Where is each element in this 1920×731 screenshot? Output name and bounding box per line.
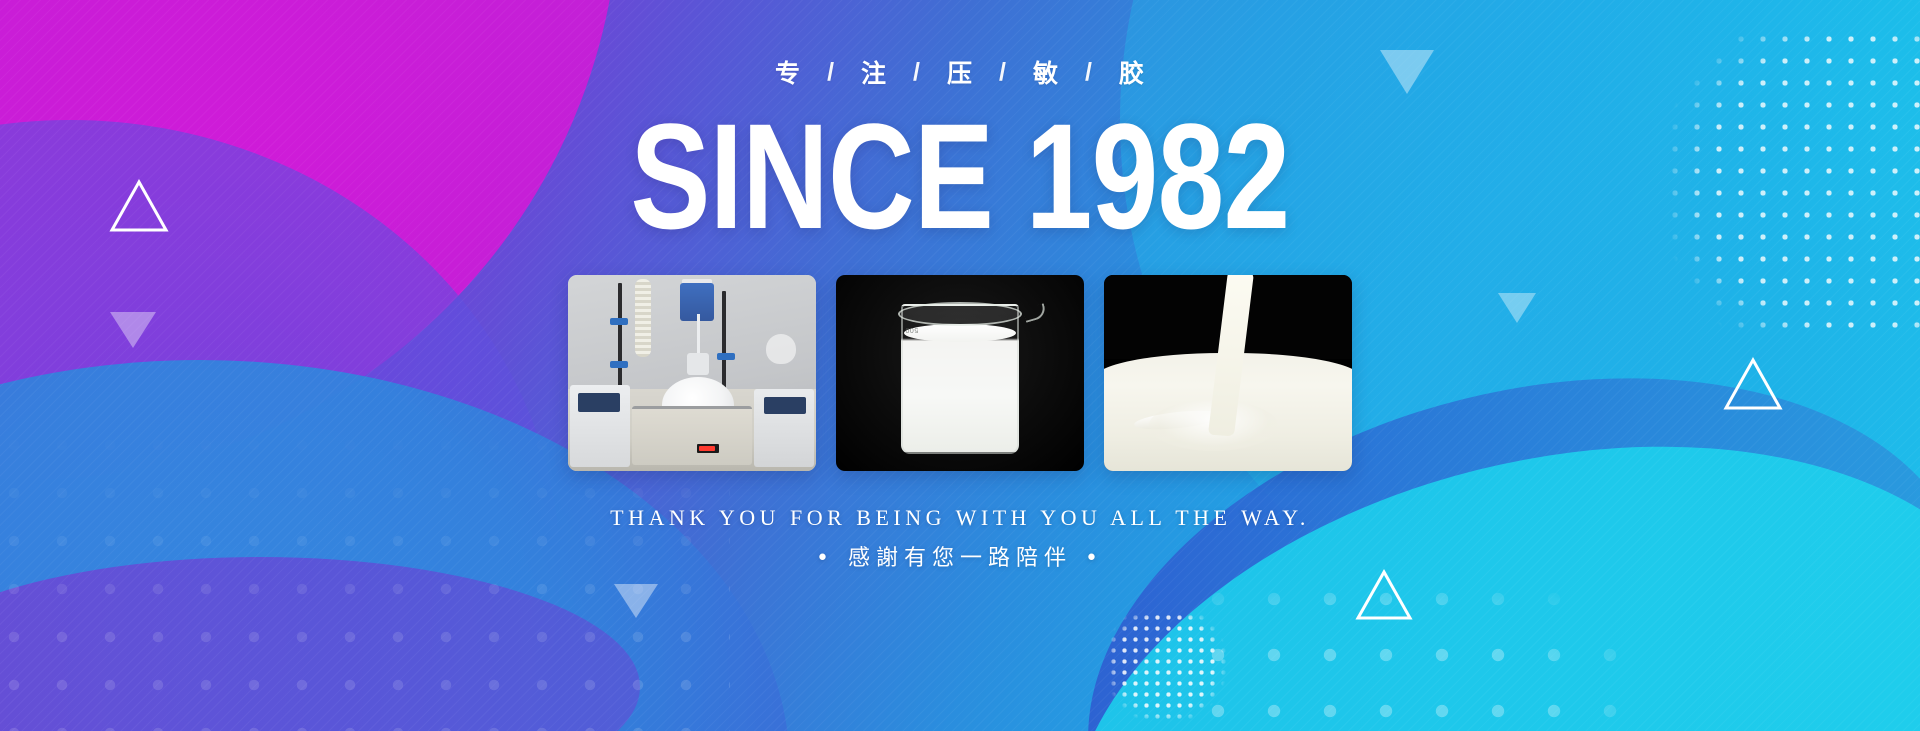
beaker-emulsion-photo: 500 bbox=[836, 275, 1084, 471]
kicker-separator-2: / bbox=[913, 58, 921, 87]
promo-banner: 专 / 注 / 压 / 敏 / 胶 SINCE 1982 bbox=[0, 0, 1920, 731]
banner-content: 专 / 注 / 压 / 敏 / 胶 SINCE 1982 bbox=[0, 0, 1920, 731]
kicker-separator-4: / bbox=[1085, 58, 1093, 87]
lab-reactor-photo bbox=[568, 275, 816, 471]
kicker-char-2: 注 bbox=[861, 54, 887, 90]
kicker-separator-3: / bbox=[999, 58, 1007, 87]
tagline-english: THANK YOU FOR BEING WITH YOU ALL THE WAY… bbox=[610, 505, 1310, 531]
photo-gallery: 500 bbox=[568, 275, 1352, 471]
headline-since-1982: SINCE 1982 bbox=[630, 100, 1289, 253]
kicker-line: 专 / 注 / 压 / 敏 / 胶 bbox=[775, 54, 1145, 90]
kicker-separator-1: / bbox=[827, 58, 835, 87]
kicker-char-4: 敏 bbox=[1033, 54, 1059, 90]
tagline-chinese: • 感謝有您一路陪伴 • bbox=[816, 540, 1104, 572]
kicker-char-1: 专 bbox=[775, 54, 801, 90]
pouring-adhesive-photo bbox=[1104, 275, 1352, 471]
kicker-char-5: 胶 bbox=[1119, 54, 1145, 90]
kicker-char-3: 压 bbox=[947, 54, 973, 90]
